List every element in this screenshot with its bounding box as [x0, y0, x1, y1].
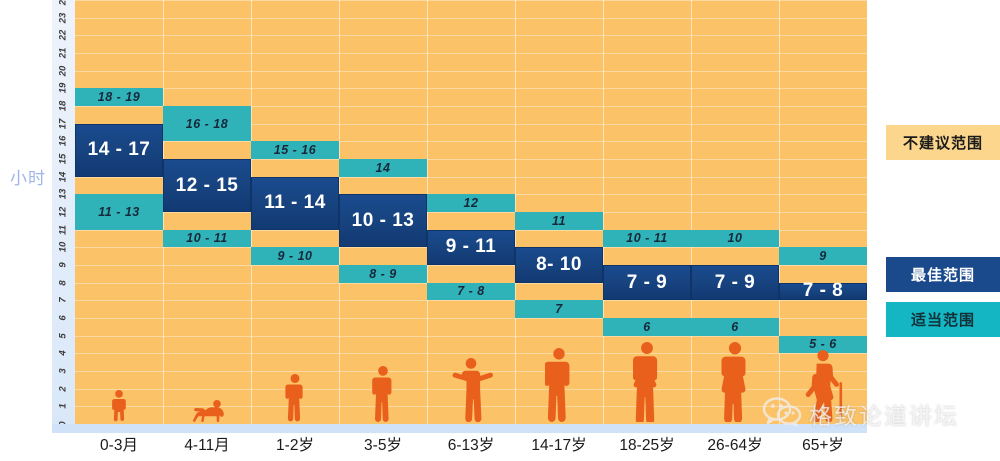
segment-appropriate-upper-label: 11: [552, 214, 566, 228]
segment-appropriate-upper-label: 10 - 11: [626, 231, 668, 245]
legend-not-recommended: 不建议范围: [886, 125, 1000, 160]
segment-appropriate-lower: 7: [515, 300, 603, 318]
sleep-duration-chart: 小时 0123456789101112131415161718192021222…: [0, 0, 1000, 461]
figure-infant: [111, 390, 127, 422]
segment-appropriate-upper-label: 15 - 16: [274, 143, 316, 157]
legend-best-label: 最佳范围: [911, 264, 975, 285]
figure-young-adult: [633, 342, 661, 422]
bar-column: 148 - 910 - 13: [339, 0, 427, 424]
figure-teen: [545, 348, 573, 422]
segment-appropriate-lower-label: 11 - 13: [98, 205, 140, 219]
x-axis-strip: [52, 424, 867, 433]
segment-appropriate-lower: 6: [691, 318, 779, 336]
segment-appropriate-upper: 10: [691, 230, 779, 248]
x-axis-label: 1-2岁: [251, 433, 339, 461]
segment-appropriate-lower: 10 - 11: [163, 230, 251, 248]
segment-best-label: 12 - 15: [176, 175, 239, 197]
segment-appropriate-upper-label: 10: [728, 231, 743, 245]
segment-appropriate-upper: 10 - 11: [603, 230, 691, 248]
segment-appropriate-lower: 11 - 13: [75, 194, 163, 229]
segment-best-label: 9 - 11: [446, 236, 497, 258]
segment-appropriate-upper: 12: [427, 194, 515, 212]
bar-column: 15 - 169 - 1011 - 14: [251, 0, 339, 424]
segment-best: 7 - 8: [779, 283, 867, 301]
segment-appropriate-lower: 6: [603, 318, 691, 336]
legend-appropriate-label: 适当范围: [911, 309, 975, 330]
x-axis-label: 65+岁: [779, 433, 867, 461]
plot-area: 18 - 1911 - 1314 - 1716 - 1810 - 1112 - …: [75, 0, 867, 424]
watermark-text: 格致论道讲坛: [809, 397, 959, 431]
y-axis-strip: 0123456789101112131415161718192021222324: [52, 0, 75, 424]
segment-best: 11 - 14: [251, 177, 339, 230]
segment-best-label: 7 - 9: [715, 272, 756, 294]
segment-best: 8- 10: [515, 247, 603, 282]
bar-column: 10 - 1167 - 9: [603, 0, 691, 424]
legend-appropriate: 适当范围: [886, 302, 1000, 337]
segment-best-label: 10 - 13: [352, 210, 415, 232]
figure-toddler: [285, 374, 305, 422]
x-axis-label: 26-64岁: [691, 433, 779, 461]
bar-column: 18 - 1911 - 1314 - 17: [75, 0, 163, 424]
x-axis-label: 18-25岁: [603, 433, 691, 461]
segment-appropriate-lower-label: 7: [555, 302, 562, 316]
segment-appropriate-lower-label: 7 - 8: [457, 284, 485, 298]
segment-best: 7 - 9: [691, 265, 779, 300]
segment-best: 14 - 17: [75, 124, 163, 177]
segment-appropriate-upper: 15 - 16: [251, 141, 339, 159]
segment-appropriate-upper: 14: [339, 159, 427, 177]
x-axis-labels: 0-3月4-11月1-2岁3-5岁6-13岁14-17岁18-25岁26-64岁…: [75, 433, 867, 461]
segment-best-label: 7 - 8: [803, 280, 844, 302]
figure-older-child: [448, 358, 494, 422]
segment-appropriate-lower-label: 9 - 10: [278, 249, 313, 263]
segment-appropriate-lower-label: 6: [731, 320, 738, 334]
figure-crawling-baby: [190, 400, 224, 422]
bar-column: 1067 - 9: [691, 0, 779, 424]
x-axis-label: 3-5岁: [339, 433, 427, 461]
x-axis-label: 6-13岁: [427, 433, 515, 461]
watermark: 格致论道讲坛: [762, 396, 959, 431]
y-axis-tick: 24: [58, 0, 70, 12]
segment-appropriate-lower-label: 6: [643, 320, 650, 334]
segment-appropriate-upper-label: 9: [819, 249, 826, 263]
figure-child: [372, 366, 394, 422]
segment-appropriate-upper-label: 12: [464, 196, 479, 210]
bar-column: 1178- 10: [515, 0, 603, 424]
segment-best: 9 - 11: [427, 230, 515, 265]
segment-appropriate-upper-label: 18 - 19: [98, 90, 140, 104]
segment-appropriate-upper: 18 - 19: [75, 88, 163, 106]
x-axis-label: 4-11月: [163, 433, 251, 461]
segment-appropriate-lower: 7 - 8: [427, 283, 515, 301]
segment-appropriate-upper-label: 14: [376, 161, 391, 175]
segment-best: 7 - 9: [603, 265, 691, 300]
wechat-icon: [762, 396, 802, 431]
figure-adult: [719, 342, 751, 422]
segment-best-label: 7 - 9: [627, 272, 668, 294]
x-axis-label: 0-3月: [75, 433, 163, 461]
segment-best-label: 8- 10: [536, 254, 582, 276]
segment-appropriate-lower-label: 10 - 11: [186, 231, 228, 245]
segment-best-label: 14 - 17: [88, 139, 151, 161]
segment-appropriate-lower: 8 - 9: [339, 265, 427, 283]
segment-best-label: 11 - 14: [264, 192, 326, 214]
legend-best: 最佳范围: [886, 257, 1000, 292]
segment-appropriate-lower: 9 - 10: [251, 247, 339, 265]
x-axis-label: 14-17岁: [515, 433, 603, 461]
segment-best: 12 - 15: [163, 159, 251, 212]
segment-appropriate-upper: 11: [515, 212, 603, 230]
legend-not-recommended-label: 不建议范围: [903, 132, 983, 153]
segment-appropriate-upper-label: 16 - 18: [186, 117, 228, 131]
segment-appropriate-upper: 16 - 18: [163, 106, 251, 141]
bar-column: 127 - 89 - 11: [427, 0, 515, 424]
bar-column: 16 - 1810 - 1112 - 15: [163, 0, 251, 424]
segment-best: 10 - 13: [339, 194, 427, 247]
segment-appropriate-lower-label: 8 - 9: [369, 267, 397, 281]
y-axis-title: 小时: [8, 168, 48, 189]
bar-column: 95 - 67 - 8: [779, 0, 867, 424]
segment-appropriate-upper: 9: [779, 247, 867, 265]
